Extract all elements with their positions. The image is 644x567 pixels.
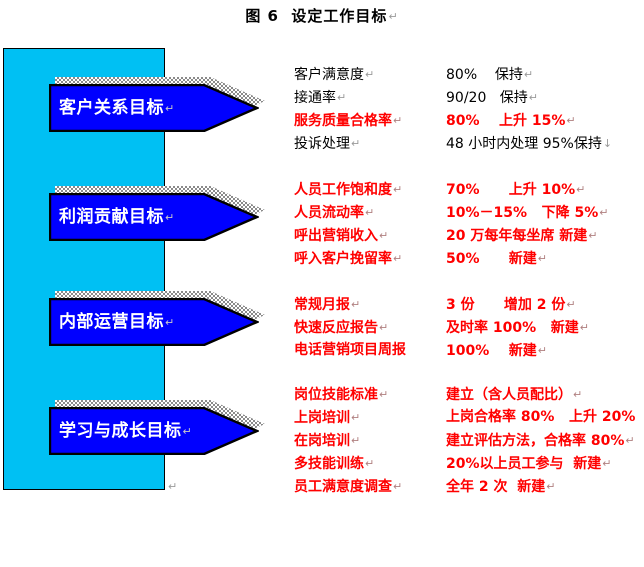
page-title-text: 图 6 设定工作目标 xyxy=(245,7,387,25)
paragraph-mark-icon: ↵ xyxy=(387,10,398,23)
goal-value: 80% 上升 15%↵ xyxy=(446,109,576,133)
goal-row: 接通率↵ 90/20 保持↵ xyxy=(294,86,644,109)
goal-row: 快速反应报告↵ 及时率 100% 新建↵ xyxy=(294,316,644,339)
page-title: 图 6 设定工作目标↵ xyxy=(0,5,644,26)
goal-row: 客户满意度↵ 80% 保持↵ xyxy=(294,63,644,86)
goal-row: 呼入客户挽留率↵ 50% 新建↵ xyxy=(294,247,644,270)
goal-name: 服务质量合格率↵ xyxy=(294,109,402,133)
goal-row: 电话营销项目周报 100% 新建↵ xyxy=(294,339,644,362)
goal-name: 常规月报↵ xyxy=(294,293,360,317)
paragraph-mark-icon: ↵ xyxy=(537,252,547,265)
paragraph-mark-icon: ↵ xyxy=(182,425,193,438)
goal-value: 10%－15% 下降 5%↵ xyxy=(446,201,609,225)
paragraph-mark-icon: ↵ xyxy=(598,206,608,219)
chevron-label-text: 内部运营目标 xyxy=(59,312,164,332)
perspective-chevron-profit[interactable]: 利润贡献目标↵ xyxy=(47,193,265,249)
goal-group-customer: 客户满意度↵ 80% 保持↵ 接通率↵ 90/20 保持↵ 服务质量合格率↵ 8… xyxy=(294,63,644,155)
paragraph-mark-icon: ↓ xyxy=(602,137,612,150)
paragraph-mark-icon: ↵ xyxy=(545,480,555,493)
paragraph-mark-icon: ↵ xyxy=(336,91,346,104)
paragraph-mark-icon: ↵ xyxy=(350,411,360,424)
paragraph-mark-icon: ↵ xyxy=(350,137,360,150)
goal-name: 上岗培训↵ xyxy=(294,406,360,430)
goal-group-learning-growth: 岗位技能标准↵ 建立（含人员配比）↵ 上岗培训↵ 上岗合格率 80% 上升 20… xyxy=(294,383,644,498)
paragraph-mark-icon: ↵ xyxy=(392,114,402,127)
goal-name: 客户满意度↵ xyxy=(294,63,374,87)
paragraph-mark-icon: ↵ xyxy=(579,321,589,334)
perspective-chevron-learning-growth[interactable]: 学习与成长目标↵ xyxy=(47,407,265,463)
paragraph-mark-icon: ↵ xyxy=(378,388,388,401)
paragraph-mark-icon: ↵ xyxy=(392,252,402,265)
goal-name: 快速反应报告↵ xyxy=(294,316,388,340)
goal-row: 上岗培训↵ 上岗合格率 80% 上升 20% xyxy=(294,406,644,429)
goal-row: 投诉处理↵ 48 小时内处理 95%保持↓ xyxy=(294,132,644,155)
perspective-chevron-internal-ops[interactable]: 内部运营目标↵ xyxy=(47,298,265,354)
goal-name: 员工满意度调查↵ xyxy=(294,475,402,499)
goal-row: 服务质量合格率↵ 80% 上升 15%↵ xyxy=(294,109,644,132)
paragraph-mark-icon: ↵ xyxy=(378,321,388,334)
paragraph-mark-icon: ↵ xyxy=(587,229,597,242)
paragraph-mark-icon: ↵ xyxy=(164,211,175,224)
goal-name: 岗位技能标准↵ xyxy=(294,383,388,407)
goal-row: 岗位技能标准↵ 建立（含人员配比）↵ xyxy=(294,383,644,406)
goal-name: 人员流动率↵ xyxy=(294,201,374,225)
goal-value: 70% 上升 10%↵ xyxy=(446,178,585,202)
paragraph-mark-icon: ↵ xyxy=(565,298,575,311)
paragraph-mark-icon: ↵ xyxy=(528,91,538,104)
paragraph-mark-icon: ↵ xyxy=(523,68,533,81)
goal-row: 在岗培训↵ 建立评估方法，合格率 80%↵ xyxy=(294,429,644,452)
chevron-label-text: 利润贡献目标 xyxy=(59,207,164,227)
goal-value: 建立（含人员配比）↵ xyxy=(446,383,582,407)
paragraph-mark-icon: ↵ xyxy=(537,344,547,357)
paragraph-mark-icon: ↵ xyxy=(364,457,374,470)
goal-row: 人员工作饱和度↵ 70% 上升 10%↵ xyxy=(294,178,644,201)
goal-value: 建立评估方法，合格率 80%↵ xyxy=(446,429,635,453)
paragraph-mark-icon: ↵ xyxy=(378,229,388,242)
chevron-label: 客户关系目标↵ xyxy=(59,84,175,132)
chevron-label: 内部运营目标↵ xyxy=(59,298,175,346)
goal-value: 20%以上员工参与 新建↵ xyxy=(446,452,611,476)
paragraph-mark-icon: ↵ xyxy=(164,316,175,329)
goal-value: 全年 2 次 新建↵ xyxy=(446,475,555,499)
goal-name: 呼入客户挽留率↵ xyxy=(294,247,402,271)
paragraph-mark-icon: ↵ xyxy=(167,480,177,493)
paragraph-mark-icon: ↵ xyxy=(624,434,634,447)
goal-row: 常规月报↵ 3 份 增加 2 份↵ xyxy=(294,293,644,316)
goal-value: 20 万每年每坐席 新建↵ xyxy=(446,224,597,248)
paragraph-mark-icon: ↵ xyxy=(392,480,402,493)
goal-value: 90/20 保持↵ xyxy=(446,86,538,110)
goal-group-internal-ops: 常规月报↵ 3 份 增加 2 份↵ 快速反应报告↵ 及时率 100% 新建↵ 电… xyxy=(294,293,644,362)
goal-name: 接通率↵ xyxy=(294,86,346,110)
paragraph-mark-icon: ↵ xyxy=(350,298,360,311)
goal-row: 多技能训练↵ 20%以上员工参与 新建↵ xyxy=(294,452,644,475)
chevron-label: 学习与成长目标↵ xyxy=(59,407,192,455)
chevron-label-text: 学习与成长目标 xyxy=(59,421,182,441)
goal-value: 及时率 100% 新建↵ xyxy=(446,316,589,340)
goal-value: 48 小时内处理 95%保持↓ xyxy=(446,132,612,156)
goal-name: 在岗培训↵ xyxy=(294,429,360,453)
chevron-label: 利润贡献目标↵ xyxy=(59,193,175,241)
perspective-chevron-customer[interactable]: 客户关系目标↵ xyxy=(47,84,265,140)
chevron-label-text: 客户关系目标 xyxy=(59,98,164,118)
goal-name: 呼出营销收入↵ xyxy=(294,224,388,248)
paragraph-mark-icon: ↵ xyxy=(565,114,575,127)
goal-name: 人员工作饱和度↵ xyxy=(294,178,402,202)
goal-name: 电话营销项目周报 xyxy=(294,339,406,362)
goal-row: 人员流动率↵ 10%－15% 下降 5%↵ xyxy=(294,201,644,224)
paragraph-mark-icon: ↵ xyxy=(164,102,175,115)
goal-value: 100% 新建↵ xyxy=(446,339,547,363)
goal-group-profit: 人员工作饱和度↵ 70% 上升 10%↵ 人员流动率↵ 10%－15% 下降 5… xyxy=(294,178,644,270)
goal-value: 50% 新建↵ xyxy=(446,247,547,271)
paragraph-mark-icon: ↵ xyxy=(350,434,360,447)
paragraph-mark-icon: ↵ xyxy=(572,388,582,401)
goal-row: 呼出营销收入↵ 20 万每年每坐席 新建↵ xyxy=(294,224,644,247)
goal-value: 3 份 增加 2 份↵ xyxy=(446,293,576,317)
paragraph-mark-icon: ↵ xyxy=(601,457,611,470)
goal-row: 员工满意度调查↵ 全年 2 次 新建↵ xyxy=(294,475,644,498)
goal-value: 上岗合格率 80% 上升 20% xyxy=(446,406,635,429)
paragraph-mark-icon: ↵ xyxy=(364,206,374,219)
goal-value: 80% 保持↵ xyxy=(446,63,533,87)
paragraph-mark-icon: ↵ xyxy=(392,183,402,196)
paragraph-mark-icon: ↵ xyxy=(364,68,374,81)
paragraph-mark-icon: ↵ xyxy=(575,183,585,196)
goal-name: 投诉处理↵ xyxy=(294,132,360,156)
goal-name: 多技能训练↵ xyxy=(294,452,374,476)
